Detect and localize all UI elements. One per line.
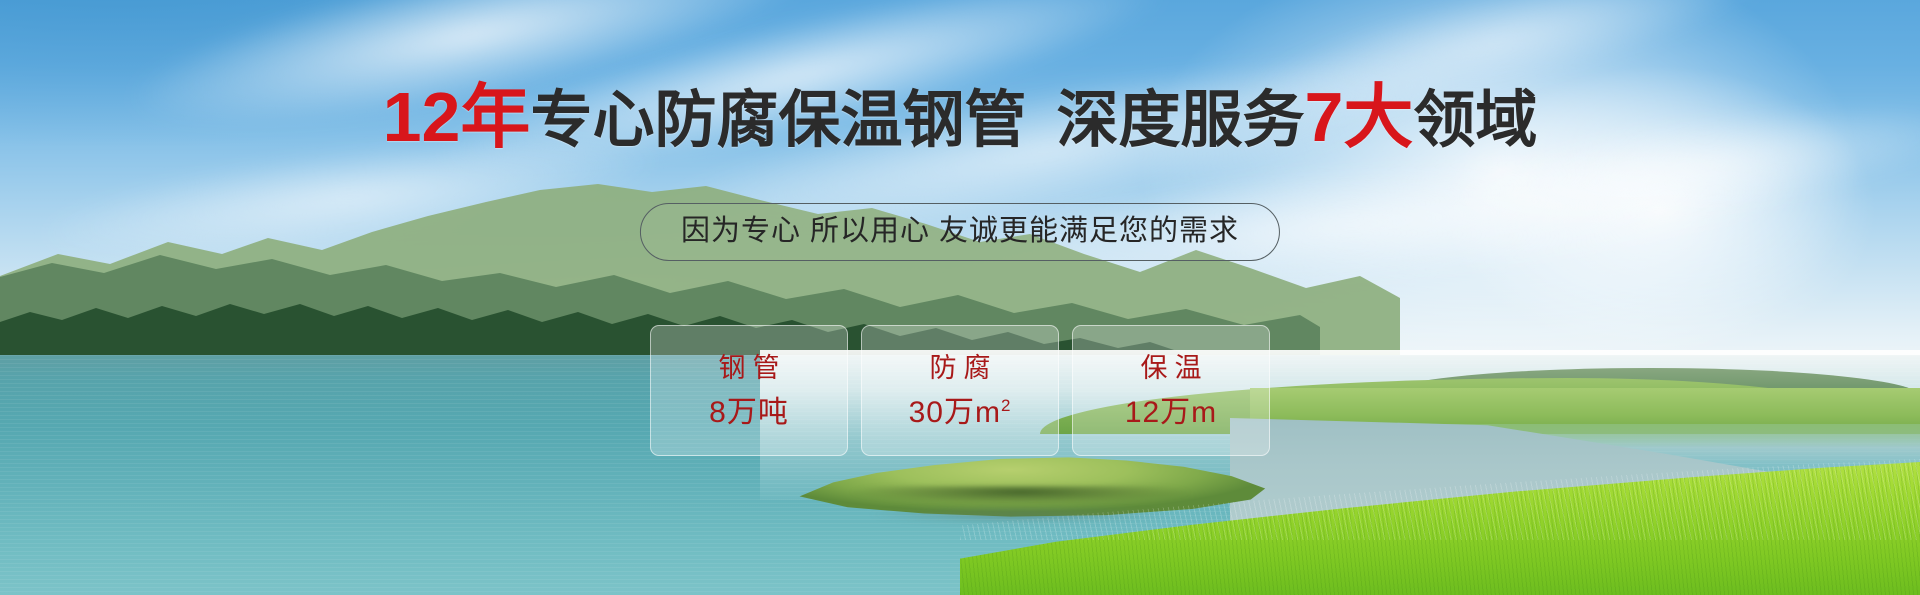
stat-card[interactable]: 保温 12万m — [1072, 325, 1270, 456]
islet-reflection — [830, 508, 1210, 530]
stat-card-value-text: 30万m — [909, 396, 1001, 429]
stat-card-title: 防腐 — [923, 352, 998, 384]
headline-years: 12年 — [383, 78, 531, 156]
stat-card-value-text: 12万m — [1125, 396, 1217, 429]
banner-headline: 12年专心防腐保温钢管深度服务7大领域 — [0, 84, 1920, 154]
headline-service-text: 深度服务 — [1056, 86, 1304, 155]
hero-banner: 12年专心防腐保温钢管深度服务7大领域 因为专心 所以用心 友诚更能满足您的需求… — [0, 0, 1920, 595]
stat-card-group: 钢管 8万吨 防腐 30万m2 保温 12万m — [650, 325, 1270, 456]
headline-focus-text: 专心防腐保温钢管 — [530, 86, 1026, 155]
stat-card-value-text: 8万吨 — [709, 396, 789, 429]
stat-card[interactable]: 钢管 8万吨 — [650, 325, 848, 456]
stat-card-value: 12万m — [1125, 396, 1217, 430]
headline-seven: 7大 — [1304, 78, 1413, 156]
banner-subtitle-pill: 因为专心 所以用心 友诚更能满足您的需求 — [640, 203, 1280, 261]
stat-card[interactable]: 防腐 30万m2 — [861, 325, 1059, 456]
stat-card-title: 保温 — [1134, 352, 1209, 384]
stat-card-value-sup: 2 — [1001, 396, 1011, 415]
headline-fields-text: 领域 — [1413, 86, 1537, 155]
stat-card-title: 钢管 — [712, 352, 787, 384]
stat-card-value: 8万吨 — [709, 396, 789, 430]
stat-card-value: 30万m2 — [909, 396, 1012, 430]
